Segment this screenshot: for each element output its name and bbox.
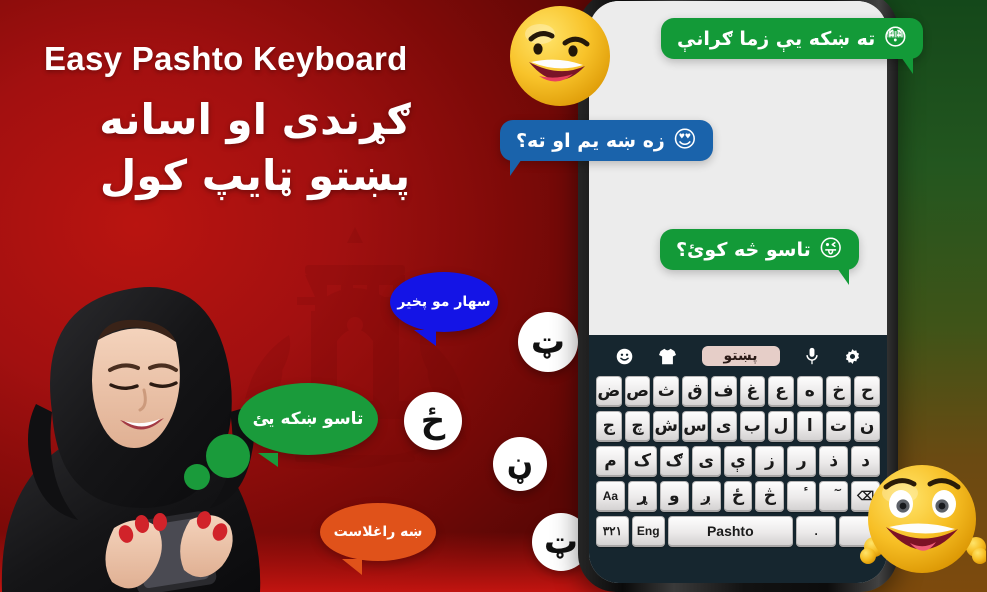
key[interactable]: ل: [768, 411, 794, 442]
key[interactable]: ث: [653, 376, 679, 407]
letter-circle-noon: ڼ: [493, 437, 547, 491]
winking-tongue-emoji: 😜: [819, 238, 843, 261]
emoji-icon[interactable]: [616, 348, 633, 365]
flushed-face-emoji: 😳: [883, 27, 907, 50]
key[interactable]: م: [596, 446, 625, 477]
key[interactable]: و: [660, 481, 689, 512]
promo-banner: Easy Pashto Keyboard ګړندی او اسانه پښتو…: [0, 0, 987, 592]
key[interactable]: ن: [854, 411, 880, 442]
keyboard-row-5: ۳۲۱ Eng Pashto .: [593, 516, 883, 547]
key[interactable]: ه: [797, 376, 823, 407]
key[interactable]: ب: [740, 411, 766, 442]
period-key[interactable]: .: [796, 516, 837, 547]
phone-mockup: پښتو ض ص ث ق ف غ ع ه: [578, 0, 898, 592]
key[interactable]: ک: [628, 446, 657, 477]
numeric-key[interactable]: ۳۲۱: [596, 516, 629, 547]
key[interactable]: ز: [755, 446, 784, 477]
key[interactable]: ف: [711, 376, 737, 407]
gear-icon[interactable]: [844, 348, 861, 365]
space-key[interactable]: Pashto: [668, 516, 793, 547]
heart-eyes-emoji: 😍: [673, 129, 697, 152]
headline-pashto-line2: پښتو ټایپ کول: [40, 148, 470, 204]
english-language-key[interactable]: Eng: [632, 516, 665, 547]
keyboard-row-2: ج چ ش س ی ب ل ا ت ن: [593, 411, 883, 442]
grinning-face-with-hands-emoji-3d: [858, 455, 986, 587]
tshirt-theme-icon[interactable]: [658, 348, 677, 365]
chat-bubble-text: تاسو څه کوئ؟: [676, 239, 811, 261]
key[interactable]: ت: [826, 411, 852, 442]
case-key[interactable]: Aa: [596, 481, 625, 512]
pashto-keyboard: پښتو ض ص ث ق ف غ ع ه: [589, 335, 887, 583]
keyboard-toolbar: پښتو: [593, 341, 883, 371]
key[interactable]: ج: [596, 411, 622, 442]
key[interactable]: ړ: [628, 481, 657, 512]
key[interactable]: ا: [797, 411, 823, 442]
letter-circle-dze: ځ: [404, 392, 462, 450]
key[interactable]: ګ: [660, 446, 689, 477]
floating-bubble-greeting: سهار مو پخیر: [390, 272, 498, 332]
chat-bubble-outgoing-1: 😳 ته ښکه یې زما ګرانې: [661, 18, 923, 59]
key[interactable]: ذ: [819, 446, 848, 477]
headline-english: Easy Pashto Keyboard: [44, 40, 514, 78]
floating-bubble-welcome: ښه راغلاست: [320, 503, 436, 561]
smiling-face-emoji-3d: [507, 4, 613, 108]
phone-screen: پښتو ض ص ث ق ف غ ع ه: [589, 1, 887, 583]
headline-pashto-line1: ګړندی او اسانه: [40, 92, 470, 148]
key[interactable]: ص: [625, 376, 651, 407]
key[interactable]: ض: [596, 376, 622, 407]
key[interactable]: ٔ: [787, 481, 816, 512]
bubble-tail-dot-large: [206, 434, 250, 478]
key[interactable]: ی: [692, 446, 721, 477]
key[interactable]: څ: [755, 481, 784, 512]
key[interactable]: چ: [625, 411, 651, 442]
key[interactable]: ق: [682, 376, 708, 407]
microphone-icon[interactable]: [805, 347, 819, 365]
key[interactable]: ږ: [692, 481, 721, 512]
floating-bubble-compliment: تاسو ښکه یئ: [238, 383, 378, 455]
key[interactable]: ح: [854, 376, 880, 407]
keyboard-row-3: م ک ګ ی ې ز ر ذ د: [593, 446, 883, 477]
bubble-tail-dot-small: [184, 464, 210, 490]
key[interactable]: ې: [724, 446, 753, 477]
keyboard-row-1: ض ص ث ق ف غ ع ه خ ح: [593, 376, 883, 407]
chat-bubble-text: ته ښکه یې زما ګرانې: [677, 28, 875, 50]
key[interactable]: خ: [826, 376, 852, 407]
key[interactable]: ع: [768, 376, 794, 407]
key[interactable]: ځ: [724, 481, 753, 512]
key[interactable]: ر: [787, 446, 816, 477]
letter-circle-te: ټ: [518, 312, 578, 372]
chat-bubble-incoming-1: 😍 زه ښه یم او ته؟: [500, 120, 713, 161]
headline-pashto: ګړندی او اسانه پښتو ټایپ کول: [40, 92, 470, 204]
keyboard-row-4: Aa ړ و ږ ځ څ ٔ ٓ ⌫: [593, 481, 883, 512]
key[interactable]: ش: [653, 411, 679, 442]
key[interactable]: ٓ: [819, 481, 848, 512]
key[interactable]: غ: [740, 376, 766, 407]
key[interactable]: س: [682, 411, 708, 442]
chat-bubble-text: زه ښه یم او ته؟: [516, 130, 665, 152]
chat-bubble-outgoing-2: 😜 تاسو څه کوئ؟: [660, 229, 859, 270]
key[interactable]: ی: [711, 411, 737, 442]
keyboard-language-pill[interactable]: پښتو: [702, 346, 780, 366]
